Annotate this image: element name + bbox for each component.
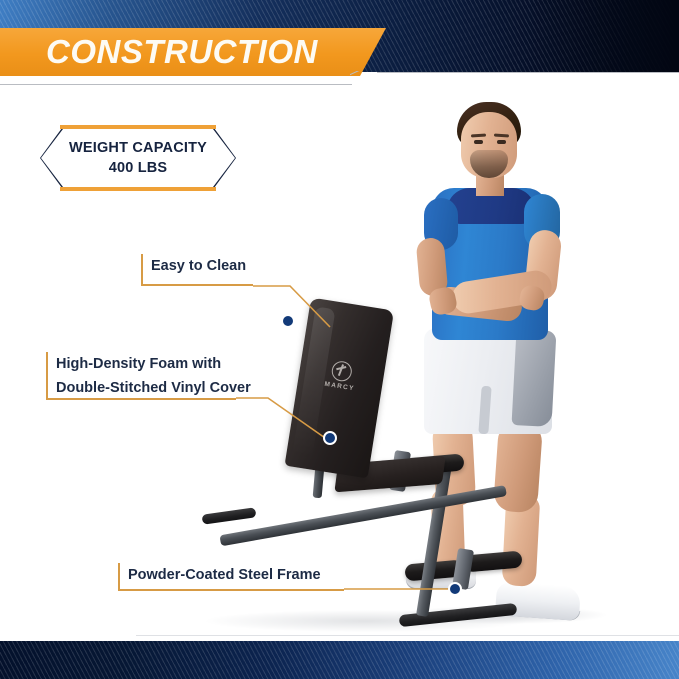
callout-bracket-vertical (118, 563, 120, 591)
eye-right (497, 140, 506, 144)
marcy-wordmark: MARCY (324, 381, 355, 393)
callout-bracket-horizontal (141, 284, 253, 286)
callout-label-line-1: Powder-Coated Steel Frame (118, 563, 344, 589)
footer-band (0, 641, 679, 679)
shorts-side-panel (512, 329, 557, 427)
callout-label-line-1: High-Density Foam with (46, 352, 236, 378)
marker-high-density-foam (323, 431, 337, 445)
callout-bracket-horizontal (46, 398, 236, 400)
callout-bracket-vertical (141, 254, 143, 286)
footer-rule (136, 635, 679, 636)
header-rule-right (377, 72, 679, 73)
callout-powder-coated-frame: Powder-Coated Steel Frame (118, 563, 344, 589)
marcy-logo: MARCY (324, 359, 359, 392)
construction-infographic: CONSTRUCTION WEIGHT CAPACITY 400 LBS (0, 0, 679, 679)
header-rule-diagonal (350, 71, 380, 85)
callout-bracket-vertical (46, 352, 48, 400)
marcy-emblem-icon (331, 360, 354, 383)
header-rule-left (0, 84, 352, 85)
callout-high-density-foam: High-Density Foam with Double-Stitched V… (46, 352, 236, 402)
marker-easy-to-clean (281, 314, 295, 328)
callout-easy-to-clean: Easy to Clean (141, 254, 253, 280)
thigh-right (493, 421, 543, 514)
callout-label-line-1: Easy to Clean (141, 254, 253, 280)
header-band-right-shade (529, 0, 679, 72)
callout-bracket-horizontal (118, 589, 344, 591)
marker-powder-coated-frame (448, 582, 462, 596)
eye-left (474, 140, 483, 144)
page-title: CONSTRUCTION (46, 33, 318, 71)
